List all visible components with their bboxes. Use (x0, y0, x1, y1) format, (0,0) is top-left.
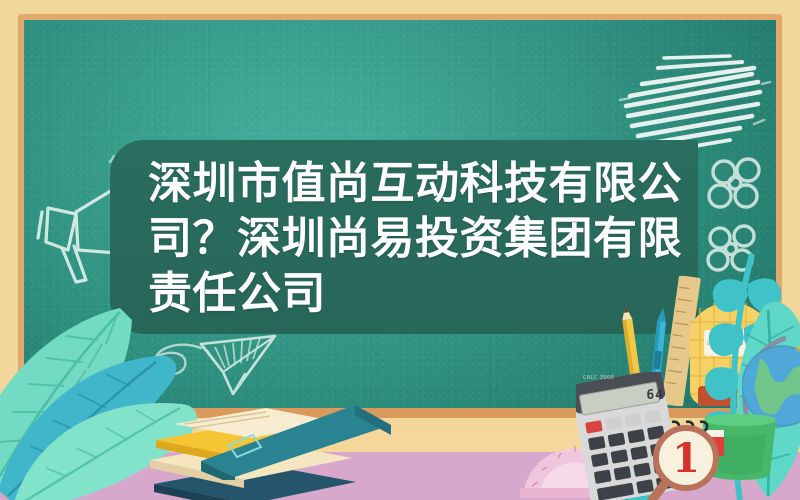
poster-canvas: 深圳市值尚互动科技有限公司？深圳尚易投资集团有限责任公司 (0, 0, 800, 500)
page-title: 深圳市值尚互动科技有限公司？深圳尚易投资集团有限责任公司 (148, 156, 708, 321)
calculator-display: 64 (646, 388, 664, 403)
magnifier-number: 1 (646, 424, 726, 492)
book-teal (195, 385, 395, 480)
magnifying-glass[interactable]: 1 (646, 424, 726, 500)
calculator-brand: CALC 3000 (583, 375, 614, 381)
